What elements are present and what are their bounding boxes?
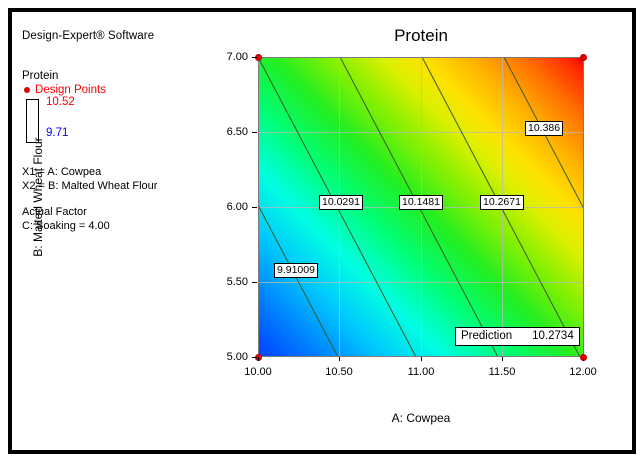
y-axis-title: B: Malted Wheat Flour (31, 77, 45, 317)
contour-plot-area[interactable]: 9.91009 10.0291 10.1481 10.2671 10.386 P… (258, 57, 584, 357)
ytick-mark (252, 357, 257, 358)
xtick-mark (502, 357, 503, 361)
design-point-icon (24, 87, 30, 93)
ytick-label-2: 6.00 (208, 201, 248, 213)
factor-x2: X2 = B: Malted Wheat Flour (22, 180, 212, 194)
actual-factor-block: Actual Factor C: Soaking = 4.00 (22, 206, 212, 233)
xtick-label-2: 11.00 (398, 366, 444, 378)
contour-label-3: 10.2671 (480, 195, 524, 210)
xtick-mark (339, 357, 340, 361)
prediction-box[interactable]: Prediction10.2734 (455, 327, 580, 346)
design-point-marker[interactable] (580, 54, 587, 61)
scale-max-value: 10.52 (46, 96, 75, 108)
xtick-label-3: 11.50 (479, 366, 525, 378)
chart-title: Protein (258, 26, 584, 46)
ytick-mark (252, 207, 257, 208)
software-title: Design-Expert® Software (22, 30, 202, 42)
contour-label-4: 10.386 (525, 121, 563, 136)
prediction-value: 10.2734 (532, 330, 574, 342)
xtick-mark (421, 357, 422, 361)
xtick-label-4: 12.00 (560, 366, 606, 378)
actual-factor-value: C: Soaking = 4.00 (22, 220, 212, 234)
contour-label-0: 9.91009 (274, 263, 318, 278)
xtick-label-0: 10.00 (235, 366, 281, 378)
actual-factor-heading: Actual Factor (22, 206, 212, 220)
x-axis-title: A: Cowpea (258, 411, 584, 425)
software-info-panel: Design-Expert® Software (22, 30, 202, 42)
ytick-mark (252, 282, 257, 283)
ytick-label-0: 5.00 (208, 351, 248, 363)
xtick-mark (258, 357, 259, 361)
design-points-legend-row: Design Points (24, 84, 202, 96)
prediction-label: Prediction (461, 330, 512, 342)
ytick-label-4: 7.00 (208, 51, 248, 63)
contour-label-2: 10.1481 (399, 195, 443, 210)
response-legend: Protein Design Points 10.52 9.71 (22, 70, 202, 147)
ytick-mark (252, 132, 257, 133)
color-scale: 10.52 9.71 (22, 97, 202, 147)
xtick-mark (583, 357, 584, 361)
scale-min-value: 9.71 (46, 127, 68, 139)
legend-response-name: Protein (22, 70, 202, 82)
factor-x1: X1 = A: Cowpea (22, 166, 212, 180)
ytick-label-1: 5.50 (208, 276, 248, 288)
design-points-label: Design Points (35, 84, 106, 96)
design-expert-window: Design-Expert® Software Protein Design P… (0, 0, 644, 462)
ytick-mark (252, 57, 257, 58)
ytick-label-3: 6.50 (208, 126, 248, 138)
contour-label-1: 10.0291 (319, 195, 363, 210)
factor-list: X1 = A: Cowpea X2 = B: Malted Wheat Flou… (22, 166, 212, 193)
xtick-label-1: 10.50 (316, 366, 362, 378)
